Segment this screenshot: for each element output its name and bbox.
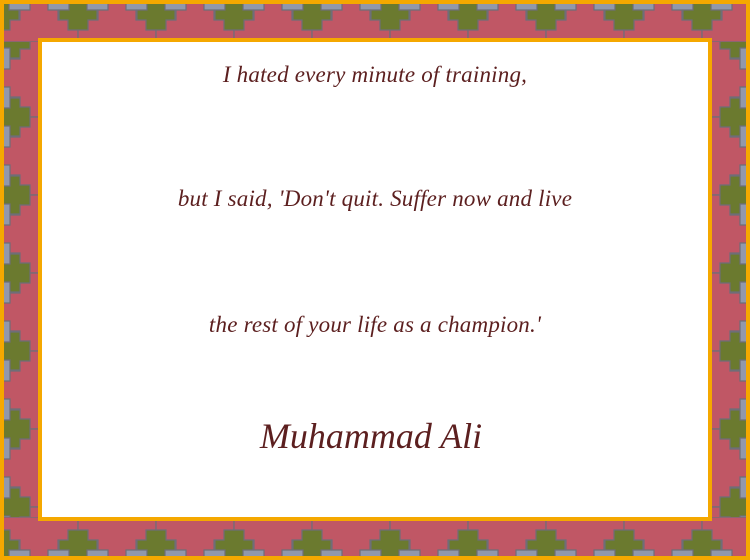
- quote-line-2: but I said, 'Don't quit. Suffer now and …: [42, 184, 720, 214]
- gold-frame-inner-right: [708, 38, 712, 521]
- border-band-bottom: [0, 517, 750, 560]
- gold-frame-inner-bottom: [38, 517, 712, 521]
- quote-paper: I hated every minute of training, but I …: [42, 42, 708, 517]
- gold-frame-outer-left: [0, 0, 4, 560]
- gold-frame-outer-right: [746, 0, 750, 560]
- quote-attribution: Muhammad Ali: [42, 414, 708, 458]
- quote-line-1: I hated every minute of training,: [42, 60, 720, 90]
- gold-frame-inner-top: [38, 38, 712, 42]
- quote-text-block: I hated every minute of training, but I …: [42, 42, 708, 517]
- gold-frame-outer-bottom: [0, 556, 750, 560]
- quote-card: I hated every minute of training, but I …: [0, 0, 750, 560]
- gold-frame-outer-top: [0, 0, 750, 4]
- border-band-top: [0, 0, 750, 42]
- border-band-right: [708, 42, 750, 517]
- gold-frame-inner-left: [38, 38, 42, 521]
- quote-line-3: the rest of your life as a champion.': [42, 310, 718, 340]
- border-band-left: [0, 42, 42, 517]
